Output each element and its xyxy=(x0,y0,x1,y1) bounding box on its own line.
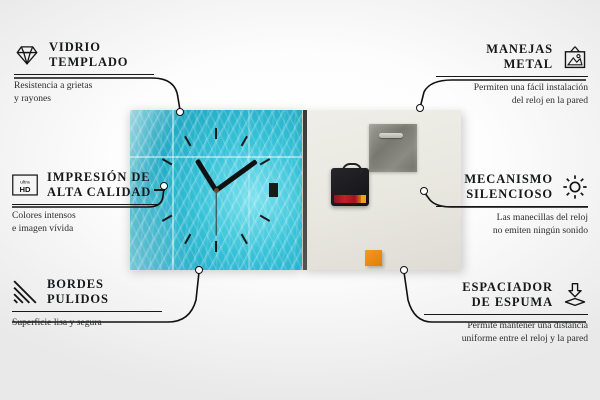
callout-divider xyxy=(12,204,158,206)
leader-node-espaciador xyxy=(400,266,408,274)
ultra-hd-icon: ultra HD xyxy=(12,172,38,198)
callout-title-line1: MECANISMO xyxy=(464,172,553,186)
leader-node-bordes-pulidos xyxy=(195,266,203,274)
leader-node-vidrio-templado xyxy=(176,108,184,116)
leader-node-manejas-metal xyxy=(416,104,424,112)
callout-title: MANEJAS METAL xyxy=(486,42,553,72)
callout-subtitle-line2: del reloj en la pared xyxy=(512,95,588,106)
clock-second-hand xyxy=(215,190,216,236)
callout-espaciador-espuma: ESPACIADOR DE ESPUMA Permite mantener un… xyxy=(424,280,588,346)
callout-title-line2: SILENCIOSO xyxy=(466,187,553,201)
callout-title-line2: DE ESPUMA xyxy=(472,295,553,309)
foam-spacer xyxy=(365,250,382,266)
callout-subtitle-line2: no emiten ningún sonido xyxy=(493,225,588,236)
silent-clock-mechanism xyxy=(331,168,369,206)
clock-minute-hand xyxy=(215,159,258,192)
callout-title: ESPACIADOR DE ESPUMA xyxy=(462,280,553,310)
callout-title-line1: IMPRESIÓN DE xyxy=(47,170,151,184)
hour-tick xyxy=(260,215,271,222)
callout-subtitle: Colores intensos e imagen vívida xyxy=(12,209,172,235)
hour-tick xyxy=(162,158,173,165)
callout-title: BORDES PULIDOS xyxy=(47,277,109,307)
hour-tick xyxy=(215,128,217,139)
clock-center-pin xyxy=(214,188,219,193)
callout-title-line2: TEMPLADO xyxy=(49,55,128,69)
diagonal-lines-icon xyxy=(12,279,38,305)
callout-mecanismo-silencioso: MECANISMO SILENCIOSO Las manecillas del … xyxy=(436,172,588,238)
picture-hanger-icon xyxy=(562,44,588,70)
infographic-stage: VIDRIO TEMPLADO Resistencia a grietas y … xyxy=(0,0,600,400)
callout-subtitle: Permite mantener una distancia uniforme … xyxy=(424,319,588,345)
callout-subtitle-line2: y rayones xyxy=(14,93,51,104)
svg-text:HD: HD xyxy=(19,185,31,194)
callout-vidrio-templado: VIDRIO TEMPLADO Resistencia a grietas y … xyxy=(14,40,164,106)
callout-title-line1: ESPACIADOR xyxy=(462,280,553,294)
callout-title-line2: METAL xyxy=(504,57,553,71)
diamond-icon xyxy=(14,42,40,68)
arrow-onto-layer-icon xyxy=(562,282,588,308)
callout-divider xyxy=(436,76,588,78)
callout-subtitle-line1: Resistencia a grietas xyxy=(14,80,92,91)
callout-subtitle: Resistencia a grietas y rayones xyxy=(14,79,164,105)
leader-node-mecanismo xyxy=(420,187,428,195)
clock-hour-hand xyxy=(195,158,218,191)
callout-bordes-pulidos: BORDES PULIDOS Superficie lisa y segura xyxy=(12,277,172,329)
callout-manejas-metal: MANEJAS METAL Permiten una fácil instala… xyxy=(436,42,588,108)
callout-title-line1: BORDES xyxy=(47,277,104,291)
callout-subtitle: Superficie lisa y segura xyxy=(12,316,172,329)
callout-divider xyxy=(14,74,154,76)
callout-title-line1: MANEJAS xyxy=(486,42,553,56)
callout-impresion-alta-calidad: ultra HD IMPRESIÓN DE ALTA CALIDAD Color… xyxy=(12,170,172,236)
callout-divider xyxy=(436,206,588,208)
hour-tick xyxy=(184,136,191,147)
callout-title: MECANISMO SILENCIOSO xyxy=(464,172,553,202)
battery-terminal xyxy=(361,195,366,203)
callout-title: IMPRESIÓN DE ALTA CALIDAD xyxy=(47,170,151,200)
hour-tick xyxy=(184,234,191,245)
callout-subtitle-line1: Colores intensos xyxy=(12,210,76,221)
hour-tick xyxy=(260,158,271,165)
callout-subtitle-line1: Las manecillas del reloj xyxy=(497,212,588,223)
hanger-slot xyxy=(379,133,403,138)
product-image xyxy=(130,110,460,270)
callout-title-line1: VIDRIO xyxy=(49,40,101,54)
hour-tick xyxy=(269,183,278,197)
hour-tick xyxy=(241,136,248,147)
callout-divider xyxy=(12,311,162,313)
callout-subtitle: Permiten una fácil instalación del reloj… xyxy=(436,81,588,107)
callout-subtitle-line2: e imagen vívida xyxy=(12,223,73,234)
callout-subtitle-line1: Permite mantener una distancia xyxy=(467,320,588,331)
hour-tick xyxy=(215,241,217,252)
callout-subtitle-line1: Permiten una fácil instalación xyxy=(474,82,588,93)
panel-edge xyxy=(303,110,307,270)
mechanism-loop xyxy=(342,163,362,173)
callout-subtitle-line2: uniforme entre el reloj y la pared xyxy=(462,333,588,344)
gear-icon xyxy=(562,174,588,200)
battery xyxy=(334,195,364,203)
callout-subtitle-line1: Superficie lisa y segura xyxy=(12,317,102,328)
callout-title-line2: ALTA CALIDAD xyxy=(47,185,151,199)
metal-hanger-plate xyxy=(369,124,417,172)
callout-title: VIDRIO TEMPLADO xyxy=(49,40,128,70)
hour-tick xyxy=(241,234,248,245)
callout-title-line2: PULIDOS xyxy=(47,292,109,306)
callout-divider xyxy=(424,314,588,316)
callout-subtitle: Las manecillas del reloj no emiten ningú… xyxy=(436,211,588,237)
